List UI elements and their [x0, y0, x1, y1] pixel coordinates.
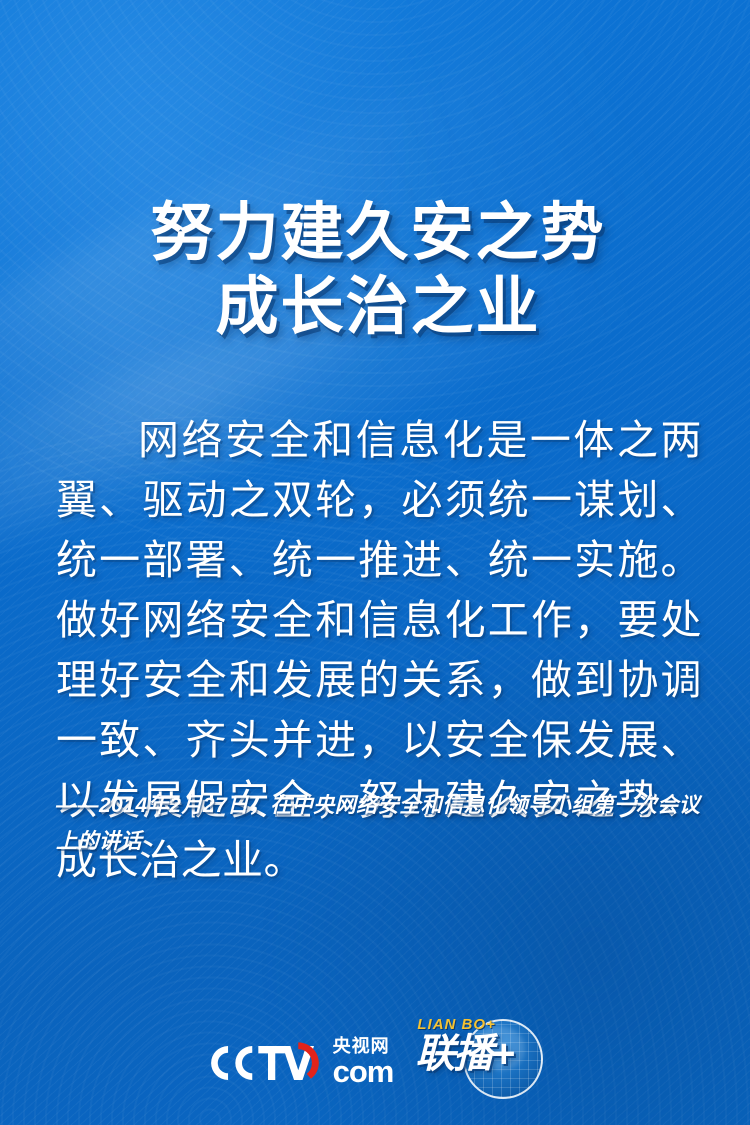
lianbo-plus-logo: LIAN BO+ 联播+ [415, 1016, 543, 1098]
quote-attribution: ——2014年2月27日，在中央网络安全和信息化领导小组第一次会议上的讲话 [56, 788, 716, 860]
cctv-wordmark-icon [207, 1040, 329, 1086]
cctv-domain-text: com [333, 1057, 394, 1087]
cctv-cn-name: 央视网 [333, 1036, 394, 1056]
headline-line-1: 努力建久安之势 [0, 196, 750, 270]
headline-line-2: 成长治之业 [0, 270, 750, 344]
lianbo-en-name: LIAN BO+ [417, 1016, 495, 1033]
page-title: 努力建久安之势 成长治之业 [0, 196, 750, 344]
poster-content: 努力建久安之势 成长治之业 网络安全和信息化是一体之两翼、驱动之双轮，必须统一谋… [0, 0, 750, 1125]
cctv-logo: 央视网 com [207, 1026, 394, 1088]
poster-canvas: 努力建久安之势 成长治之业 网络安全和信息化是一体之两翼、驱动之双轮，必须统一谋… [0, 0, 750, 1125]
lianbo-cn-name: 联播+ [415, 1033, 512, 1075]
cctv-logo-text: 央视网 com [333, 1036, 394, 1087]
footer-logo-bar: 央视网 com LIAN BO+ 联播+ [0, 1009, 750, 1105]
